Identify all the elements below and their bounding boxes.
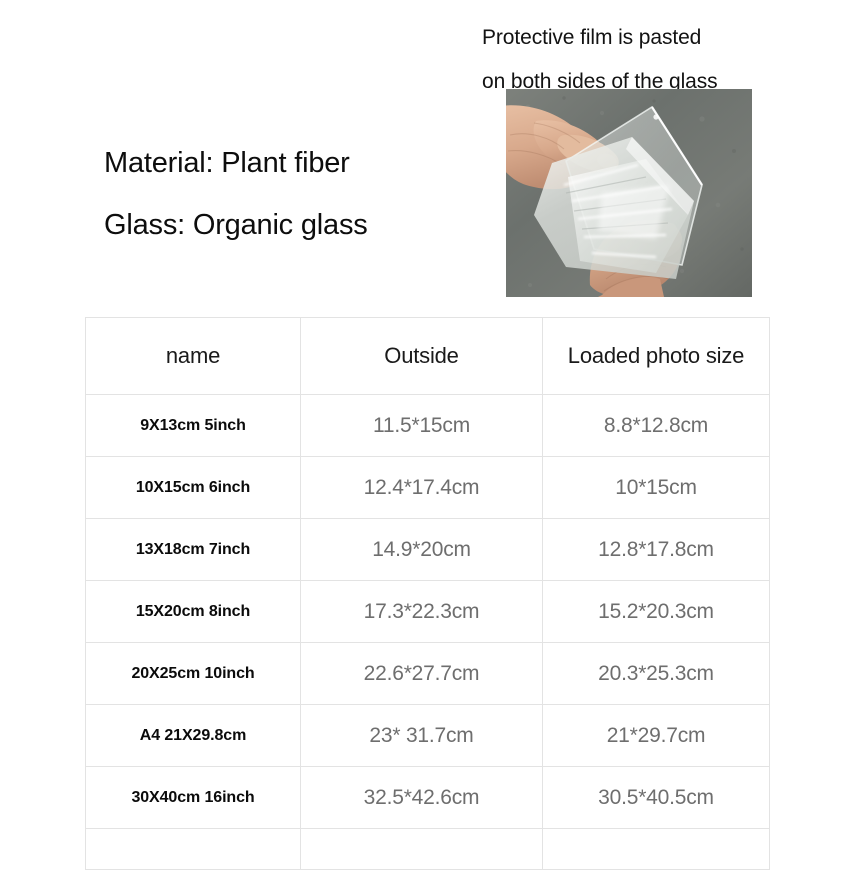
cell-outside: 23* 31.7cm <box>301 705 543 767</box>
column-header-outside: Outside <box>301 318 543 395</box>
cell-name: 20X25cm 10inch <box>86 643 301 705</box>
cell-outside: 11.5*15cm <box>301 395 543 457</box>
cell-outside: 14.9*20cm <box>301 519 543 581</box>
cell-outside: 12.4*17.4cm <box>301 457 543 519</box>
table-row: 9X13cm 5inch 11.5*15cm 8.8*12.8cm <box>86 395 770 457</box>
cell-loaded: 10*15cm <box>543 457 770 519</box>
table-header-row: name Outside Loaded photo size <box>86 318 770 395</box>
cell-loaded: 15.2*20.3cm <box>543 581 770 643</box>
cell-loaded: 20.3*25.3cm <box>543 643 770 705</box>
cell-loaded <box>543 829 770 870</box>
cell-name: 9X13cm 5inch <box>86 395 301 457</box>
cell-outside: 17.3*22.3cm <box>301 581 543 643</box>
table-row: 30X40cm 16inch 32.5*42.6cm 30.5*40.5cm <box>86 767 770 829</box>
size-specification-table: name Outside Loaded photo size 9X13cm 5i… <box>85 317 770 870</box>
cell-loaded: 8.8*12.8cm <box>543 395 770 457</box>
table-row-partial <box>86 829 770 870</box>
cell-name: 13X18cm 7inch <box>86 519 301 581</box>
caption-line-1: Protective film is pasted <box>482 16 782 60</box>
table-row: 13X18cm 7inch 14.9*20cm 12.8*17.8cm <box>86 519 770 581</box>
cell-name <box>86 829 301 870</box>
table-row: A4 21X29.8cm 23* 31.7cm 21*29.7cm <box>86 705 770 767</box>
material-spec-block: Material: Plant fiber Glass: Organic gla… <box>104 132 494 256</box>
protective-film-photo <box>506 89 752 297</box>
spec-glass: Glass: Organic glass <box>104 194 494 256</box>
cell-loaded: 30.5*40.5cm <box>543 767 770 829</box>
column-header-name: name <box>86 318 301 395</box>
cell-name: 15X20cm 8inch <box>86 581 301 643</box>
cell-loaded: 12.8*17.8cm <box>543 519 770 581</box>
cell-loaded: 21*29.7cm <box>543 705 770 767</box>
cell-name: A4 21X29.8cm <box>86 705 301 767</box>
photo-illustration <box>506 89 752 297</box>
cell-outside: 22.6*27.7cm <box>301 643 543 705</box>
cell-name: 10X15cm 6inch <box>86 457 301 519</box>
spec-material: Material: Plant fiber <box>104 132 494 194</box>
table-row: 15X20cm 8inch 17.3*22.3cm 15.2*20.3cm <box>86 581 770 643</box>
table-row: 10X15cm 6inch 12.4*17.4cm 10*15cm <box>86 457 770 519</box>
cell-name: 30X40cm 16inch <box>86 767 301 829</box>
cell-outside: 32.5*42.6cm <box>301 767 543 829</box>
table-row: 20X25cm 10inch 22.6*27.7cm 20.3*25.3cm <box>86 643 770 705</box>
column-header-loaded: Loaded photo size <box>543 318 770 395</box>
cell-outside <box>301 829 543 870</box>
